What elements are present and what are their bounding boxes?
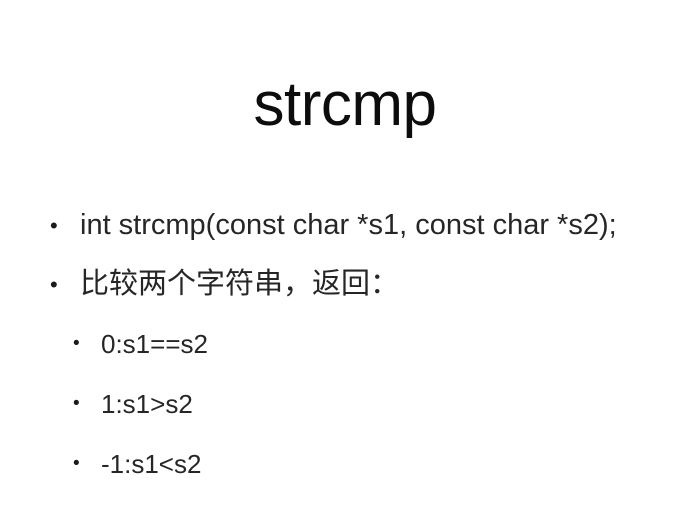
list-item: • 比较两个字符串，返回： — [0, 255, 690, 314]
bullet-marker-icon: • — [73, 314, 85, 374]
bullet-text: 0:s1==s2 — [101, 329, 208, 359]
bullet-marker-icon: • — [50, 255, 64, 314]
presentation-slide: strcmp • int strcmp(const char *s1, cons… — [0, 0, 690, 509]
list-item: • int strcmp(const char *s1, const char … — [0, 196, 690, 255]
list-item: • -1:s1<s2 — [0, 434, 690, 494]
bullet-marker-icon: • — [50, 196, 64, 255]
page-title: strcmp — [0, 72, 690, 137]
bullet-marker-icon: • — [73, 434, 85, 494]
bullet-text: int strcmp(const char *s1, const char *s… — [80, 209, 617, 241]
list-item: • 0:s1==s2 — [0, 314, 690, 374]
bullet-text: 1:s1>s2 — [101, 389, 193, 419]
list-item: • 1:s1>s2 — [0, 374, 690, 434]
bullet-text: 比较两个字符串，返回： — [80, 268, 399, 300]
bullet-marker-icon: • — [73, 374, 85, 434]
slide-bullet-list: • int strcmp(const char *s1, const char … — [0, 196, 690, 494]
bullet-text: -1:s1<s2 — [101, 449, 201, 479]
